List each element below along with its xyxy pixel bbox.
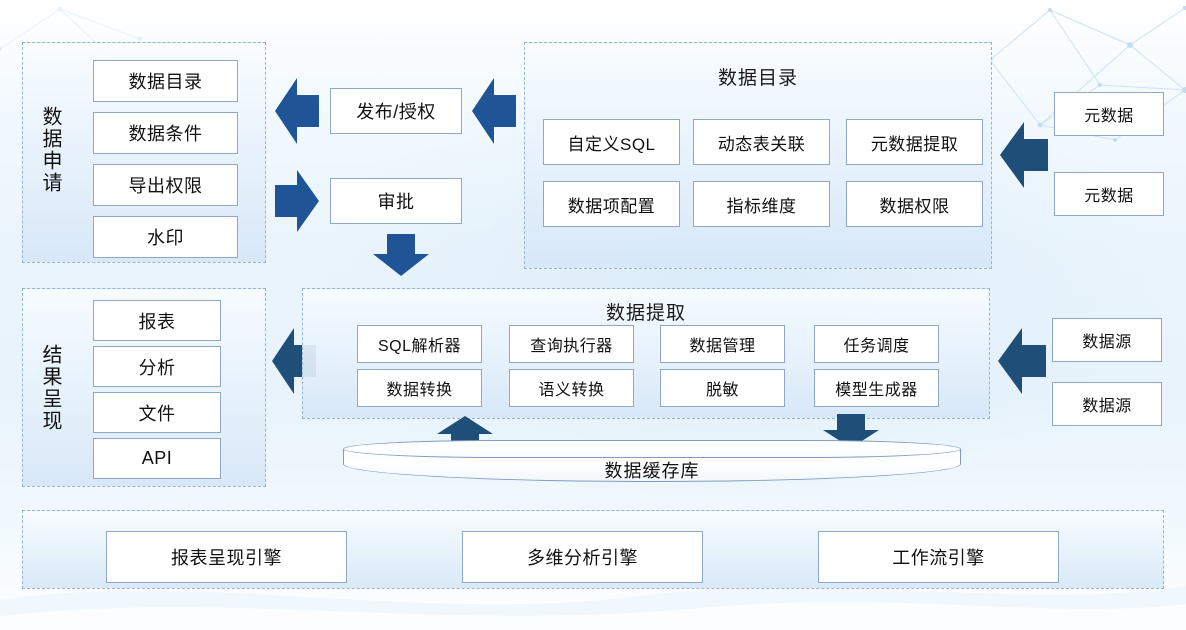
arrow-metadata-to-catalog-icon (1000, 122, 1048, 188)
data-request-item-catalog[interactable]: 数据目录 (93, 60, 238, 102)
arrow-publish-to-request-icon (275, 78, 319, 144)
arrow-catalog-to-publish-icon (472, 78, 516, 144)
panel-data-catalog-title: 数据目录 (524, 63, 992, 90)
panel-data-request-label: 数据申请 (34, 55, 60, 245)
data-catalog-item-metric-dimension[interactable]: 指标维度 (693, 181, 830, 227)
source-metadata-1[interactable]: 元数据 (1054, 92, 1164, 136)
result-item-analysis[interactable]: 分析 (93, 346, 221, 387)
flow-publish-authorize-box[interactable]: 发布/授权 (330, 88, 462, 134)
data-extraction-item-desensitization[interactable]: 脱敏 (660, 369, 785, 407)
source-datasource-1[interactable]: 数据源 (1052, 318, 1162, 362)
data-cache-database-label: 数据缓存库 (343, 457, 961, 483)
panel-data-extraction-title: 数据提取 (302, 298, 990, 325)
flow-approval-box[interactable]: 审批 (330, 178, 462, 224)
data-cache-database[interactable]: 数据缓存库 (343, 440, 961, 482)
arrow-request-to-approval-icon (275, 170, 319, 232)
data-extraction-item-query-executor[interactable]: 查询执行器 (509, 325, 634, 363)
source-datasource-2[interactable]: 数据源 (1052, 382, 1162, 426)
data-extraction-item-model-generator[interactable]: 模型生成器 (814, 369, 939, 407)
data-extraction-item-semantic-transform[interactable]: 语义转换 (509, 369, 634, 407)
data-extraction-item-task-scheduling[interactable]: 任务调度 (814, 325, 939, 363)
panel-result-presentation-label: 结果呈现 (34, 300, 60, 475)
data-request-item-watermark[interactable]: 水印 (93, 216, 238, 258)
data-catalog-item-data-field-config[interactable]: 数据项配置 (543, 181, 680, 227)
result-item-report[interactable]: 报表 (93, 300, 221, 341)
source-metadata-2[interactable]: 元数据 (1054, 172, 1164, 216)
arrow-datasource-to-extraction-icon (998, 328, 1046, 394)
data-extraction-item-sql-parser[interactable]: SQL解析器 (357, 325, 482, 363)
result-item-api[interactable]: API (93, 438, 221, 479)
data-extraction-item-data-transform[interactable]: 数据转换 (357, 369, 482, 407)
result-item-file[interactable]: 文件 (93, 392, 221, 433)
arrow-approval-to-extraction-icon (373, 234, 429, 276)
data-catalog-item-dynamic-table-relation[interactable]: 动态表关联 (693, 119, 830, 165)
data-request-item-conditions[interactable]: 数据条件 (93, 112, 238, 154)
data-catalog-item-data-permission[interactable]: 数据权限 (846, 181, 983, 227)
engine-report-rendering[interactable]: 报表呈现引擎 (106, 531, 347, 583)
cylinder-top-ellipse (343, 440, 961, 458)
data-catalog-item-custom-sql[interactable]: 自定义SQL (543, 119, 680, 165)
data-extraction-item-data-management[interactable]: 数据管理 (660, 325, 785, 363)
diagram-canvas: 数据申请 数据目录 数据条件 导出权限 水印 发布/授权 审批 数据目录 自定义… (0, 0, 1186, 630)
engine-workflow[interactable]: 工作流引擎 (818, 531, 1059, 583)
data-request-item-export-permission[interactable]: 导出权限 (93, 164, 238, 206)
data-catalog-item-metadata-extraction[interactable]: 元数据提取 (846, 119, 983, 165)
engine-multidimensional-analysis[interactable]: 多维分析引擎 (462, 531, 703, 583)
